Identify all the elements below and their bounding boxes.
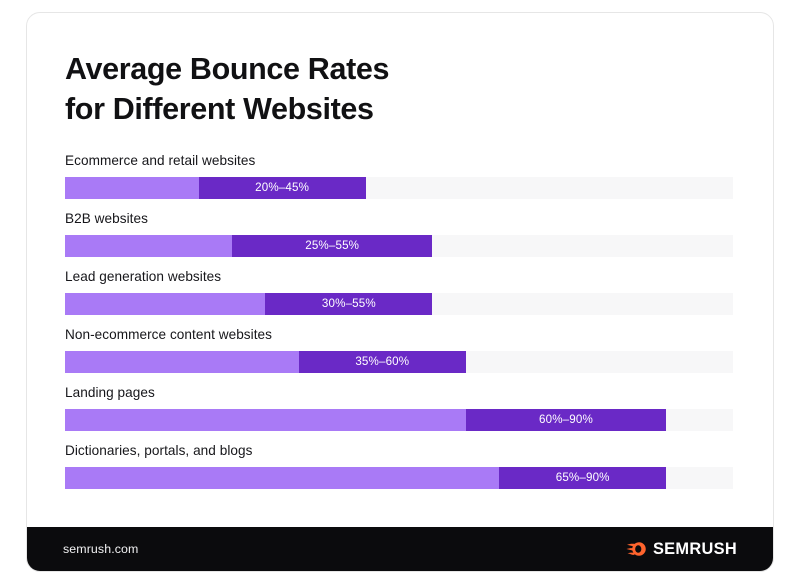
bar-row-label: Ecommerce and retail websites	[65, 153, 255, 169]
bar-row: Lead generation websites30%–55%	[65, 269, 737, 327]
bar-segment-range: 60%–90%	[466, 409, 666, 431]
brand-name: SEMRUSH	[653, 540, 737, 559]
bar-value-label: 20%–45%	[255, 182, 309, 194]
bar-segment-low	[65, 351, 299, 373]
bar-segment-low	[65, 293, 265, 315]
semrush-comet-icon	[626, 540, 647, 558]
bar-segment-range: 65%–90%	[499, 467, 666, 489]
bar-value-label: 60%–90%	[539, 414, 593, 426]
bar-track: 35%–60%	[65, 351, 733, 373]
brand-lockup: SEMRUSH	[626, 540, 737, 559]
footer-website-url: semrush.com	[63, 542, 138, 556]
bar-row: B2B websites25%–55%	[65, 211, 737, 269]
bar-value-label: 25%–55%	[305, 240, 359, 252]
bar-track: 30%–55%	[65, 293, 733, 315]
bar-segment-range: 35%–60%	[299, 351, 466, 373]
bar-segment-range: 20%–45%	[199, 177, 366, 199]
bar-track: 65%–90%	[65, 467, 733, 489]
bar-segment-low	[65, 409, 466, 431]
bar-row: Non-ecommerce content websites35%–60%	[65, 327, 737, 385]
footer-bar: semrush.com SEMRUSH	[27, 527, 773, 571]
bar-row: Landing pages60%–90%	[65, 385, 737, 443]
bar-segment-range: 25%–55%	[232, 235, 432, 257]
chart-body: Average Bounce Rates for Different Websi…	[27, 13, 773, 529]
bar-track: 20%–45%	[65, 177, 733, 199]
bar-segment-low	[65, 235, 232, 257]
bar-row-label: Non-ecommerce content websites	[65, 327, 272, 343]
bar-value-label: 35%–60%	[355, 356, 409, 368]
bar-row-label: B2B websites	[65, 211, 148, 227]
bar-row: Dictionaries, portals, and blogs65%–90%	[65, 443, 737, 501]
bar-segment-low	[65, 177, 199, 199]
bar-track: 60%–90%	[65, 409, 733, 431]
bar-chart-rows: Ecommerce and retail websites20%–45%B2B …	[65, 153, 737, 501]
bar-value-label: 65%–90%	[556, 472, 610, 484]
page-title: Average Bounce Rates for Different Websi…	[65, 49, 535, 130]
bar-segment-range: 30%–55%	[265, 293, 432, 315]
bar-row-label: Landing pages	[65, 385, 155, 401]
bar-value-label: 30%–55%	[322, 298, 376, 310]
bar-segment-low	[65, 467, 499, 489]
bar-row: Ecommerce and retail websites20%–45%	[65, 153, 737, 211]
bar-row-label: Lead generation websites	[65, 269, 221, 285]
chart-card: Average Bounce Rates for Different Websi…	[26, 12, 774, 572]
bar-row-label: Dictionaries, portals, and blogs	[65, 443, 252, 459]
bar-track: 25%–55%	[65, 235, 733, 257]
infographic-root: Average Bounce Rates for Different Websi…	[0, 0, 800, 588]
